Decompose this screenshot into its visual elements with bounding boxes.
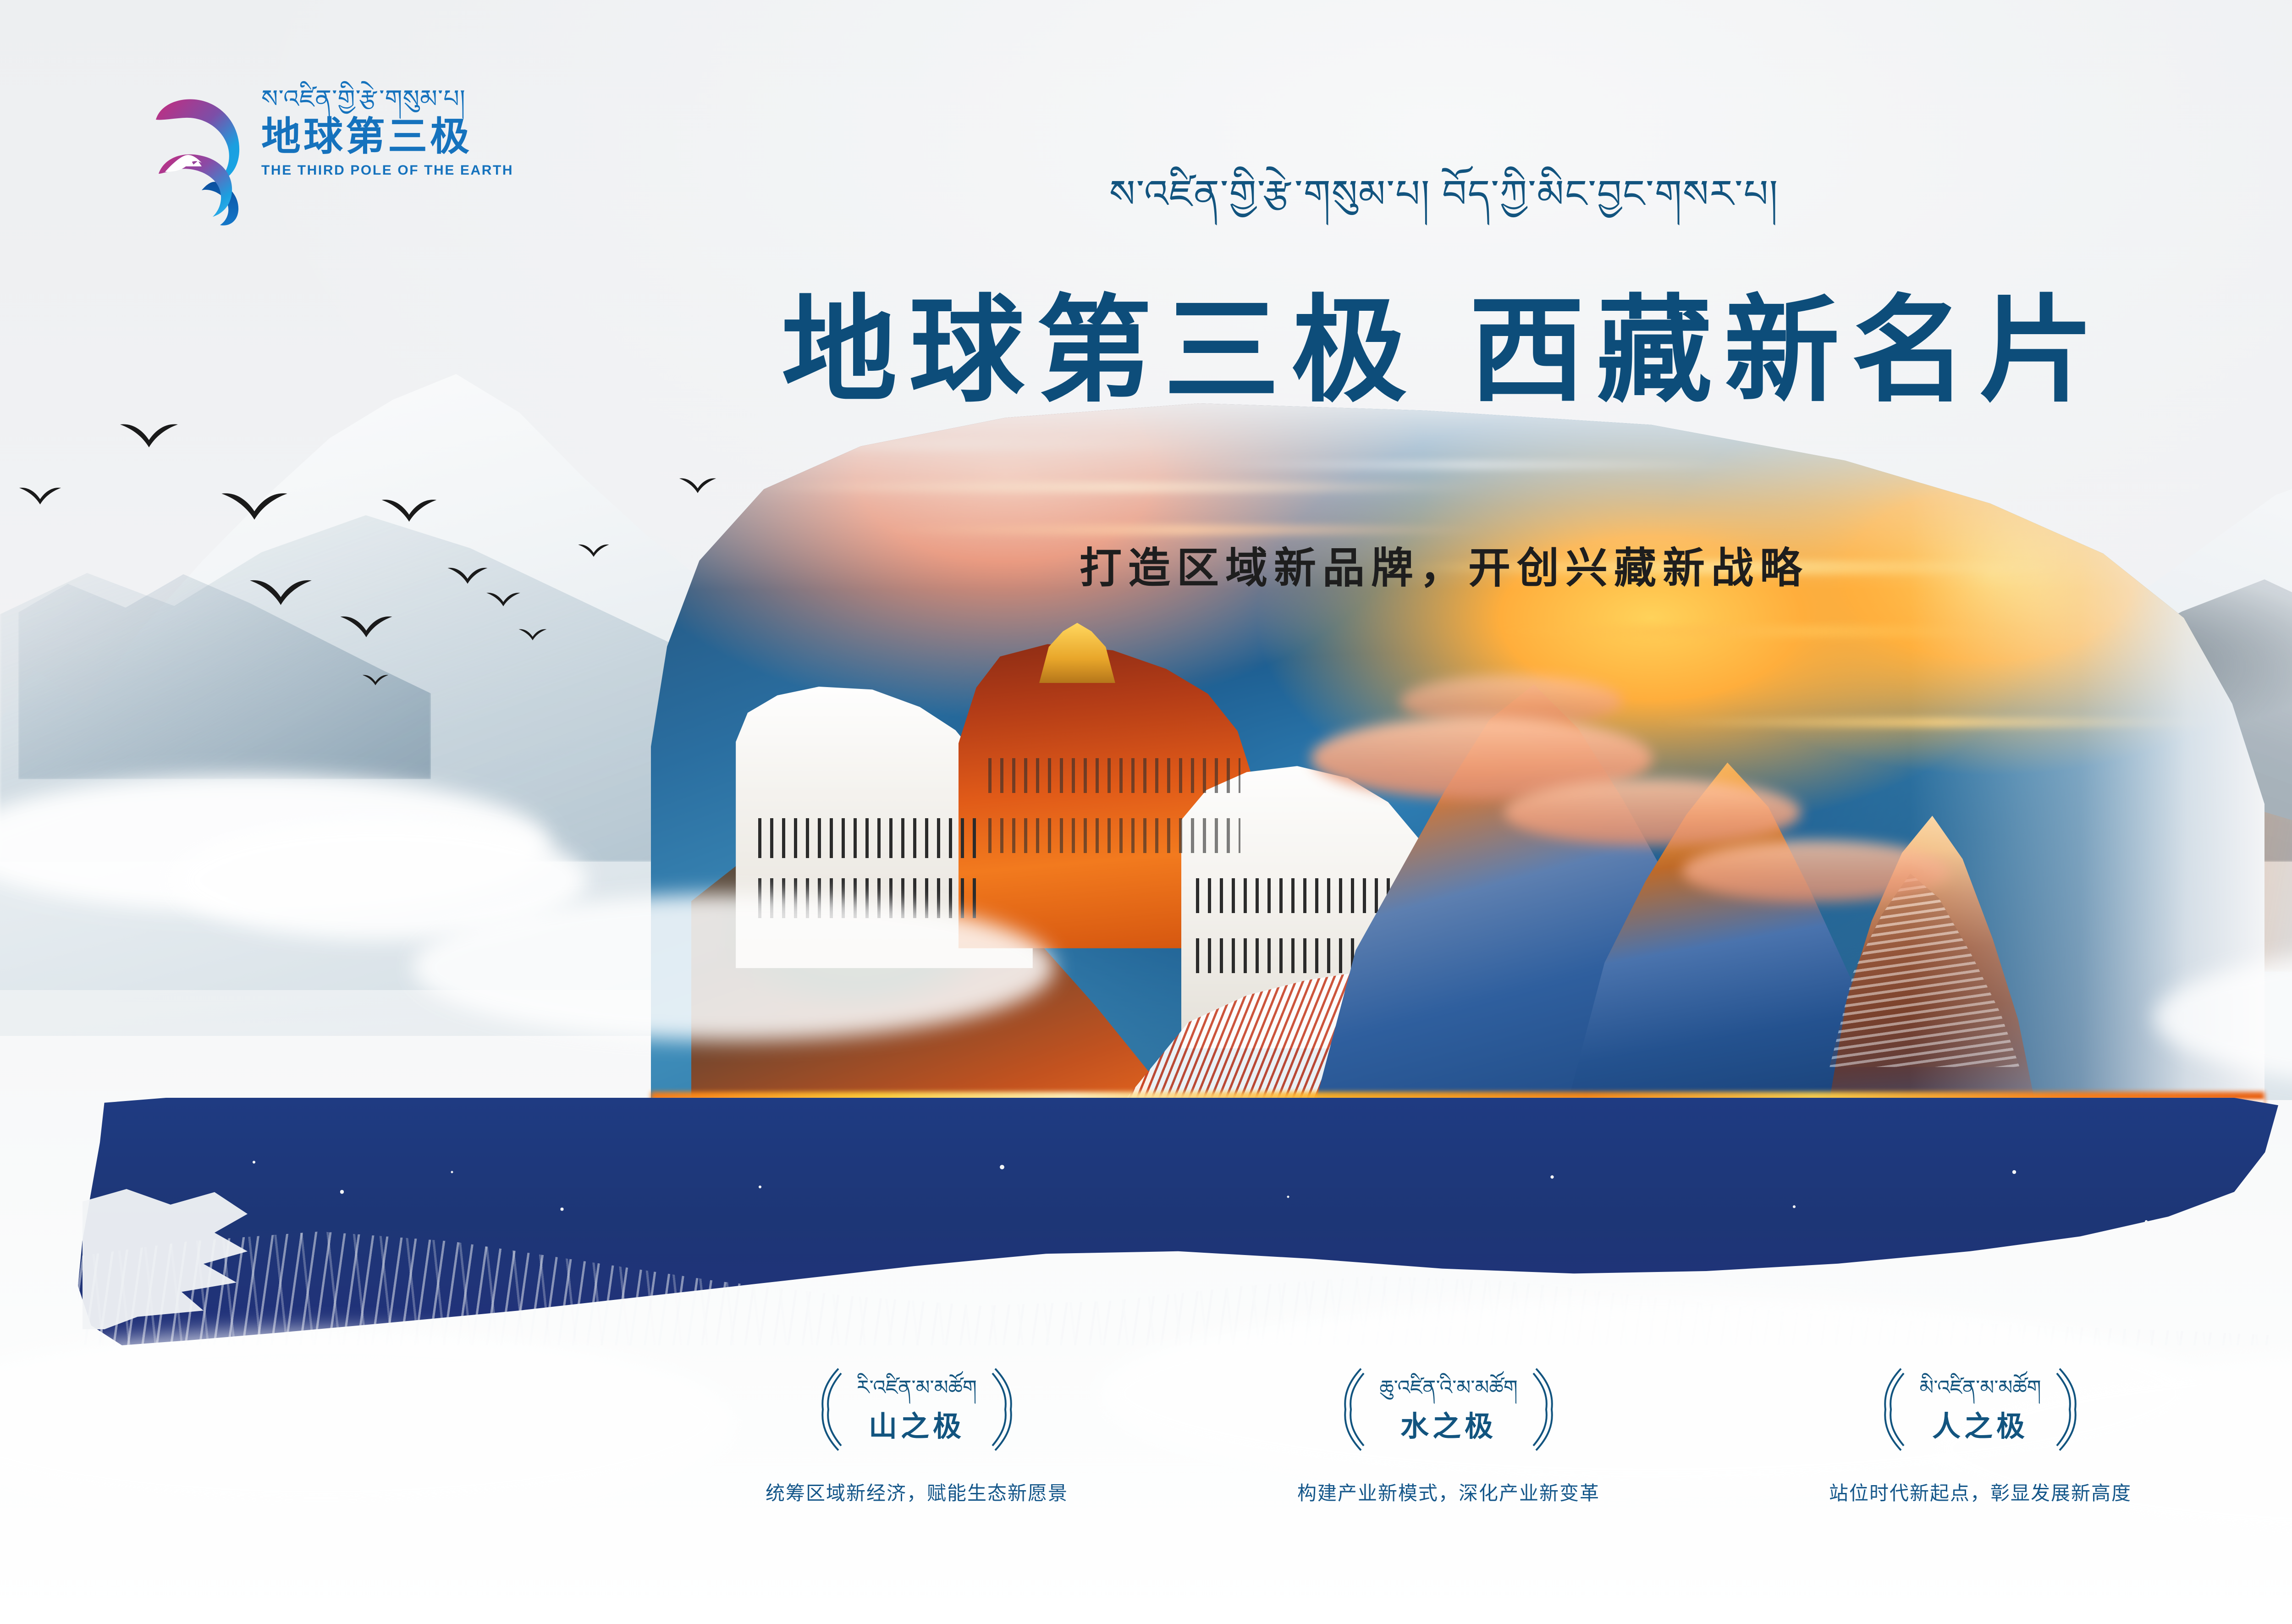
- pillar-description: 统筹区域新经济，赋能生态新愿景: [688, 1478, 1146, 1506]
- pillar-ren[interactable]: མི་འཛིན་མ་མཚོག 人之极 站位时代新起点，彰显发展新高度: [1751, 1366, 2209, 1506]
- bracket-ornament-left-icon: [1335, 1366, 1367, 1453]
- bird-icon: [380, 497, 438, 523]
- bracket-ornament-right-icon: [1530, 1366, 1562, 1453]
- pillar-heading: ཆུ་འཛིན་འི་མ་མཚོག 水之极: [1219, 1366, 1678, 1453]
- title-part-1: 地球第三极: [782, 286, 1419, 415]
- bird-icon: [220, 490, 289, 521]
- bracket-ornament-left-icon: [1875, 1366, 1907, 1453]
- pillar-name: 人之极: [1932, 1403, 2028, 1444]
- pillar-description: 构建产业新模式，深化产业新变革: [1219, 1478, 1678, 1506]
- page-title: 地球第三极西藏新名片: [0, 293, 2292, 409]
- pillar-label-group: རི་འཛིན་མ་མཚོག 山之极: [857, 1375, 977, 1444]
- logo-tibetan-line: ས་འཛིན་གྱི་རྩེ་གསུམ་པ།: [261, 85, 545, 113]
- pillar-tibetan: ཆུ་འཛིན་འི་མ་མཚོག: [1379, 1375, 1517, 1400]
- pillar-description: 站位时代新起点，彰显发展新高度: [1751, 1478, 2209, 1506]
- pillar-label-group: ཆུ་འཛིན་འི་མ་མཚོག 水之极: [1379, 1375, 1517, 1444]
- bird-icon: [18, 486, 62, 505]
- pillar-label-group: མི་འཛིན་མ་མཚོག 人之极: [1919, 1375, 2041, 1444]
- pillar-heading: རི་འཛིན་མ་མཚོག 山之极: [688, 1366, 1146, 1453]
- bird-icon: [362, 674, 389, 686]
- bird-icon: [119, 422, 179, 448]
- header-tibetan-line: ས་འཛིན་གྱི་རྩེ་གསུམ་པ། བོད་ཀྱི་མིང་བྱང་ག…: [0, 151, 2292, 259]
- pillar-name: 水之极: [1400, 1403, 1497, 1444]
- bracket-ornament-left-icon: [813, 1366, 845, 1453]
- pillar-shan[interactable]: རི་འཛིན་མ་མཚོག 山之极 统筹区域新经济，赋能生态新愿景: [688, 1366, 1146, 1506]
- title-part-2: 西藏新名片: [1469, 286, 2106, 415]
- poster-canvas: ས་འཛིན་གྱི་རྩེ་གསུམ་པ། 地球第三极 THE THIRD P…: [0, 0, 2292, 1624]
- palace-windows: [758, 818, 981, 858]
- cloud: [0, 1329, 733, 1513]
- palace-windows: [988, 818, 1241, 853]
- navy-brush-stroke: [78, 1098, 2278, 1345]
- bird-icon: [518, 628, 547, 641]
- page-subtitle: 打造区域新品牌，开创兴藏新战略: [0, 534, 2292, 595]
- bracket-ornament-right-icon: [989, 1366, 1021, 1453]
- lenticular-cloud: [1504, 779, 1801, 846]
- bracket-ornament-right-icon: [2053, 1366, 2085, 1453]
- pillar-shui[interactable]: ཆུ་འཛིན་འི་མ་མཚོག 水之极 构建产业新模式，深化产业新变革: [1219, 1366, 1678, 1506]
- palace-windows: [988, 758, 1241, 793]
- pillar-name: 山之极: [869, 1403, 965, 1444]
- pillar-tibetan: མི་འཛིན་མ་མཚོག: [1919, 1375, 2041, 1400]
- cloud: [413, 894, 1054, 1040]
- bird-icon: [339, 614, 393, 638]
- pillars-row: རི་འཛིན་མ་མཚོག 山之极 统筹区域新经济，赋能生态新愿景 ཆུ་འཛ…: [688, 1366, 2209, 1577]
- pillar-tibetan: རི་འཛིན་མ་མཚོག: [857, 1375, 977, 1400]
- bird-icon: [678, 477, 717, 494]
- pillar-heading: མི་འཛིན་མ་མཚོག 人之极: [1751, 1366, 2209, 1453]
